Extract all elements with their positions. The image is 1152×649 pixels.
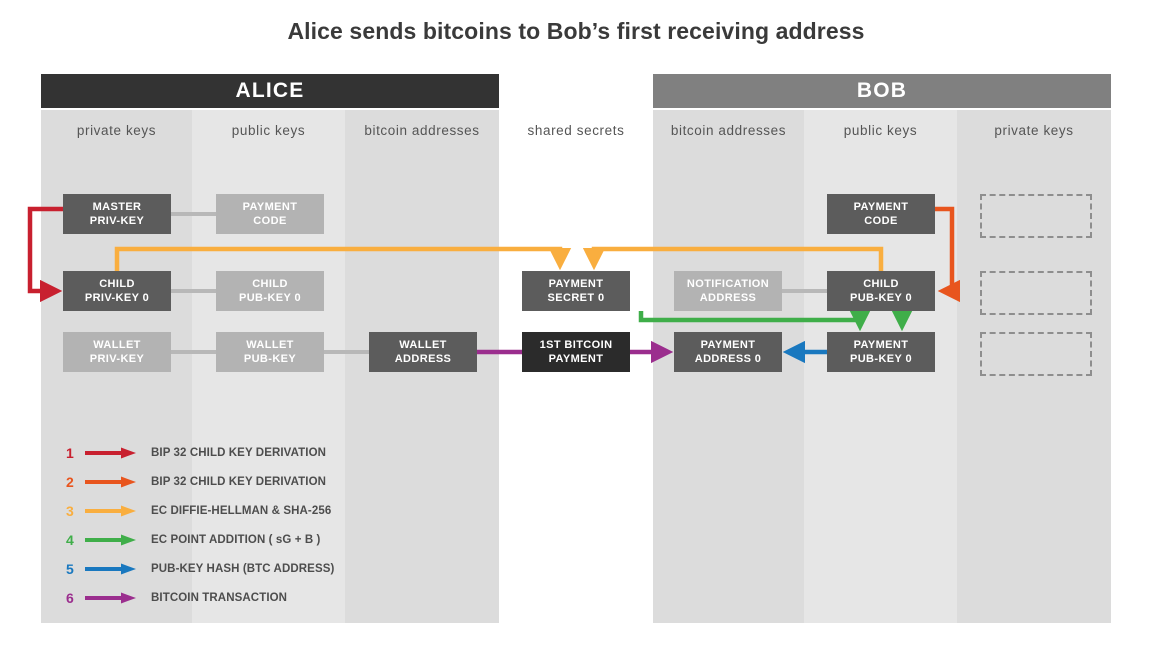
arrow-red-bip32-alice xyxy=(30,209,63,291)
node-bob-child-pub-key-0[interactable]: CHILDPUB-KEY 0 xyxy=(827,271,935,311)
legend: 1BIP 32 CHILD KEY DERIVATION2BIP 32 CHIL… xyxy=(66,438,334,612)
legend-label: PUB-KEY HASH (BTC ADDRESS) xyxy=(151,563,334,575)
legend-number: 4 xyxy=(66,532,83,548)
node-wallet-address[interactable]: WALLETADDRESS xyxy=(369,332,477,372)
legend-row-2: 2BIP 32 CHILD KEY DERIVATION xyxy=(66,467,334,496)
node-label-line1: PAYMENT xyxy=(701,338,756,352)
legend-arrow-icon xyxy=(83,591,139,605)
node-bob-priv-key-slot-3 xyxy=(980,332,1092,376)
node-label-line2: PRIV-KEY xyxy=(90,214,145,228)
legend-row-6: 6BITCOIN TRANSACTION xyxy=(66,583,334,612)
node-label-line1: PAYMENT xyxy=(243,200,298,214)
node-wallet-priv-key[interactable]: WALLETPRIV-KEY xyxy=(63,332,171,372)
legend-number: 6 xyxy=(66,590,83,606)
legend-row-5: 5PUB-KEY HASH (BTC ADDRESS) xyxy=(66,554,334,583)
node-payment-address-0[interactable]: PAYMENTADDRESS 0 xyxy=(674,332,782,372)
legend-label: EC DIFFIE-HELLMAN & SHA-256 xyxy=(151,505,331,517)
node-label-line1: MASTER xyxy=(93,200,142,214)
legend-number: 2 xyxy=(66,474,83,490)
node-label-line1: PAYMENT xyxy=(854,200,909,214)
legend-row-3: 3EC DIFFIE-HELLMAN & SHA-256 xyxy=(66,496,334,525)
node-label-line1: PAYMENT xyxy=(549,277,604,291)
node-label-line1: WALLET xyxy=(93,338,141,352)
arrow-green-from-payment-secret xyxy=(641,311,860,325)
node-label-line1: CHILD xyxy=(863,277,899,291)
node-bob-priv-key-slot-1 xyxy=(980,194,1092,238)
legend-arrow-icon xyxy=(83,562,139,576)
legend-arrow-icon xyxy=(83,475,139,489)
arrow-amber-from-bob-child-pub xyxy=(594,249,881,271)
node-bob-payment-code[interactable]: PAYMENTCODE xyxy=(827,194,935,234)
diagram-canvas: Alice sends bitcoins to Bob’s first rece… xyxy=(0,0,1152,649)
legend-number: 1 xyxy=(66,445,83,461)
node-label-line2: PUB-KEY 0 xyxy=(239,291,301,305)
node-label-line1: CHILD xyxy=(252,277,288,291)
node-label-line2: PAYMENT xyxy=(549,352,604,366)
arrow-orange-bip32-bob xyxy=(935,209,952,291)
arrow-amber-from-alice-child-priv xyxy=(117,249,560,271)
node-label-line2: CODE xyxy=(864,214,897,228)
node-payment-pub-key-0[interactable]: PAYMENTPUB-KEY 0 xyxy=(827,332,935,372)
node-label-line2: PUB-KEY 0 xyxy=(850,291,912,305)
legend-row-4: 4EC POINT ADDITION ( sG + B ) xyxy=(66,525,334,554)
legend-label: BIP 32 CHILD KEY DERIVATION xyxy=(151,447,326,459)
node-label-line2: PRIV-KEY 0 xyxy=(85,291,149,305)
node-bob-priv-key-slot-2 xyxy=(980,271,1092,315)
node-label-line2: PUB-KEY 0 xyxy=(850,352,912,366)
node-label-line2: ADDRESS 0 xyxy=(695,352,762,366)
node-label-line1: NOTIFICATION xyxy=(687,277,769,291)
node-label-line1: CHILD xyxy=(99,277,135,291)
node-label-line2: SECRET 0 xyxy=(548,291,605,305)
legend-row-1: 1BIP 32 CHILD KEY DERIVATION xyxy=(66,438,334,467)
legend-arrow-icon xyxy=(83,504,139,518)
legend-label: BITCOIN TRANSACTION xyxy=(151,592,287,604)
node-label-line2: ADDRESS xyxy=(395,352,452,366)
legend-number: 5 xyxy=(66,561,83,577)
legend-label: EC POINT ADDITION ( sG + B ) xyxy=(151,534,320,546)
legend-number: 3 xyxy=(66,503,83,519)
legend-arrow-icon xyxy=(83,533,139,547)
node-alice-payment-code[interactable]: PAYMENTCODE xyxy=(216,194,324,234)
node-label-line1: WALLET xyxy=(399,338,447,352)
node-payment-secret-0[interactable]: PAYMENTSECRET 0 xyxy=(522,271,630,311)
node-first-bitcoin-payment[interactable]: 1ST BITCOINPAYMENT xyxy=(522,332,630,372)
legend-label: BIP 32 CHILD KEY DERIVATION xyxy=(151,476,326,488)
node-label-line1: PAYMENT xyxy=(854,338,909,352)
node-notification-address[interactable]: NOTIFICATIONADDRESS xyxy=(674,271,782,311)
legend-arrow-icon xyxy=(83,446,139,460)
node-master-priv-key[interactable]: MASTERPRIV-KEY xyxy=(63,194,171,234)
node-label-line2: PRIV-KEY xyxy=(90,352,145,366)
node-label-line2: PUB-KEY xyxy=(244,352,296,366)
node-label-line1: WALLET xyxy=(246,338,294,352)
node-label-line2: ADDRESS xyxy=(700,291,757,305)
node-child-priv-key-0[interactable]: CHILDPRIV-KEY 0 xyxy=(63,271,171,311)
node-wallet-pub-key[interactable]: WALLETPUB-KEY xyxy=(216,332,324,372)
node-alice-child-pub-key-0[interactable]: CHILDPUB-KEY 0 xyxy=(216,271,324,311)
node-label-line2: CODE xyxy=(253,214,286,228)
node-label-line1: 1ST BITCOIN xyxy=(540,338,613,352)
